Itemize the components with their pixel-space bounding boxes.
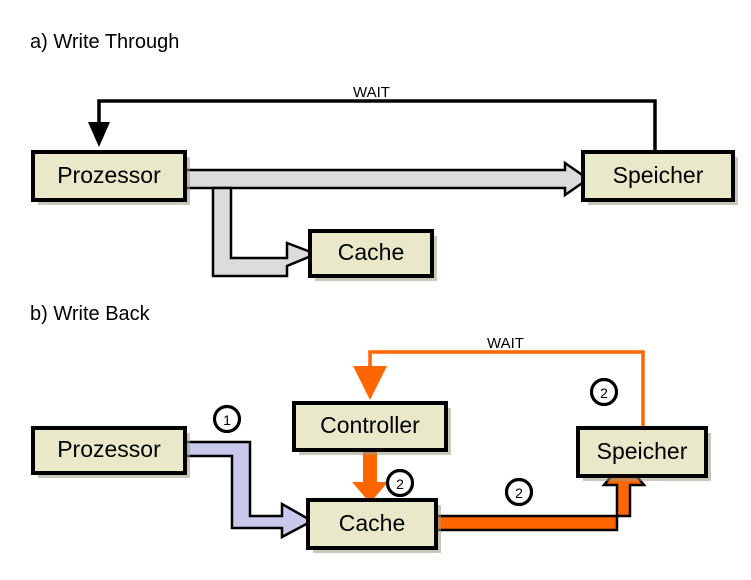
panel-a-title: a) Write Through [30,31,179,53]
box-memory-a: Speicher [583,152,738,205]
box-controller-b: Controller [294,403,451,455]
step-marker-2b-number: 2 [515,485,523,501]
processor-to-memory-band-a [185,163,588,195]
wait-label-b: WAIT [487,335,524,352]
controller-to-cache-arrow-b [352,450,388,503]
box-memory-b: Speicher [578,428,711,481]
processor-to-cache-band-a [213,188,316,276]
step-marker-1-number: 1 [223,412,231,428]
processor-to-cache-band-b [185,442,312,537]
step-marker-2c: 2 [592,380,617,405]
panel-a: a) Write Through WAIT Prozessor Cache [30,31,738,281]
wait-line-a [88,101,655,152]
cache-write-policy-diagram: a) Write Through WAIT Prozessor Cache [0,0,751,580]
box-memory-a-label: Speicher [613,162,704,188]
box-cache-a: Cache [310,231,437,281]
wait-label-a: WAIT [353,84,390,101]
step-marker-2b: 2 [507,480,532,505]
box-cache-b: Cache [308,500,441,553]
box-processor-b: Prozessor [33,428,190,478]
panel-b-title: b) Write Back [30,303,151,325]
step-marker-2c-number: 2 [600,385,608,401]
step-marker-1: 1 [215,407,240,432]
box-memory-b-label: Speicher [597,438,688,464]
step-marker-2a: 2 [388,471,413,496]
box-controller-b-label: Controller [320,412,420,438]
box-processor-a: Prozessor [33,152,190,205]
box-processor-b-label: Prozessor [57,436,161,462]
step-marker-2a-number: 2 [396,476,404,492]
panel-b: b) Write Back WAIT Prozessor Contro [30,303,711,553]
box-processor-a-label: Prozessor [57,162,161,188]
box-cache-a-label: Cache [338,239,404,265]
box-cache-b-label: Cache [339,510,405,536]
